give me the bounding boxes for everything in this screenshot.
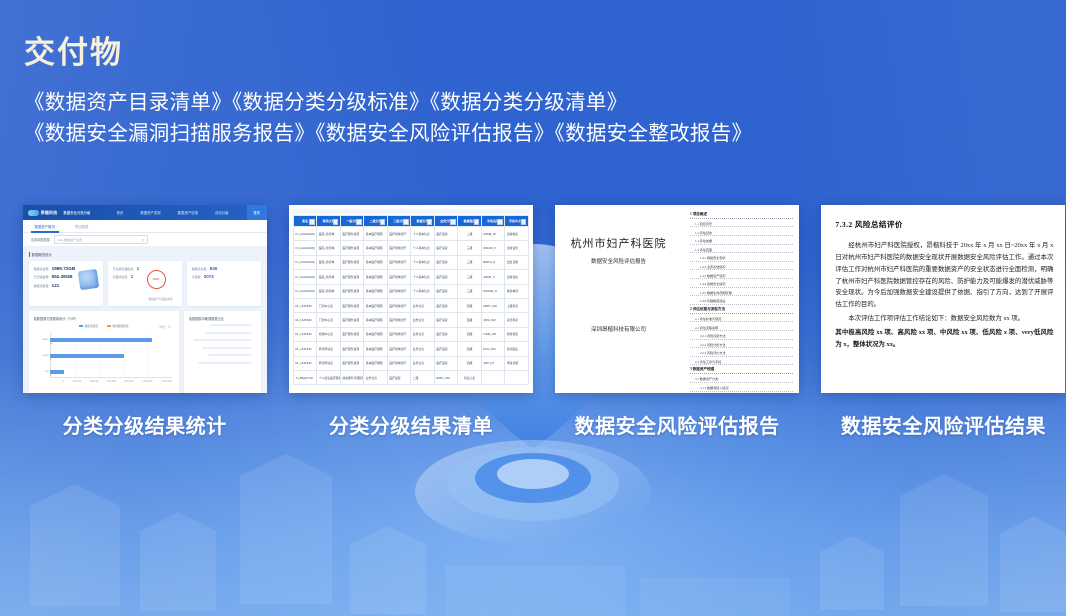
- dashboard-logo: 昂楷科技 数据安全分类分级: [28, 210, 91, 216]
- stat-value: 3072: [204, 274, 214, 279]
- legend-item-sensitive: 敏感数据数量: [107, 324, 129, 328]
- chart-plot-area: oracle mysql sql: [50, 332, 172, 378]
- logo-text: 昂楷科技: [41, 210, 58, 216]
- legend-item-tables: 数据表数量: [79, 324, 98, 328]
- chevron-down-icon: ▾: [142, 238, 144, 242]
- report-section-heading: 7.3.2 风险总结评价: [835, 219, 1053, 230]
- report-paragraph-conclusion: 其中极高风险 xx 项、高风险 xx 项、中风险 xx 项、低风险 x 项、ve…: [835, 327, 1053, 351]
- stat-value: 846: [210, 266, 218, 271]
- spreadsheet-screenshot: 库名 表英文名 一级分类 二级分类 三级分类 数据分类 业务分类 敏感级别 字段…: [289, 205, 533, 393]
- cover-subtitle: 数据安全风险评估报告: [565, 257, 672, 265]
- heading-block: 交付物 《数据资产目录清单》《数据分类分级标准》《数据分类分级清单》 《数据安全…: [24, 34, 752, 149]
- thumbnail-image-spreadsheet[interactable]: 库名 表英文名 一级分类 二级分类 三级分类 数据分类 业务分类 敏感级别 字段…: [289, 205, 533, 393]
- table-row: KJ_AAAOHWQ医院_检查单 医疗服务资源基本医疗保障 医疗机构诊疗个人基本…: [293, 255, 528, 269]
- stat-key: 数据总容量: [34, 267, 49, 271]
- col-sensitivity[interactable]: 敏感级别: [458, 216, 482, 227]
- col-table-name[interactable]: 表英文名: [317, 216, 341, 227]
- table-row: DL_HUIOHN门诊中心表 医疗服务资源基本医疗保障 医疗机构诊疗业务信息 医…: [293, 298, 528, 312]
- stat-row: 扫描中任务 1: [113, 274, 177, 279]
- chart-legend: 数据表数量 敏感数据数量: [34, 324, 174, 328]
- col-business-category[interactable]: 业务分类: [434, 216, 458, 227]
- list-placeholder-row: [205, 332, 252, 334]
- stat-card-capacity: 数据总容量 1989.72GB 已扫描容量 552.39GB 数据源数量 121: [29, 261, 103, 306]
- table-header-row: 库名 表英文名 一级分类 二级分类 三级分类 数据分类 业务分类 敏感级别 字段…: [293, 216, 528, 227]
- thumbnail-image-report-cover[interactable]: 杭州市妇产科医院 数据安全风险评估报告 深圳昂楷科技有限公司 1 项目概述 1.…: [555, 205, 799, 393]
- table-row: KJ_AAAOHWQ医院_检查单 医疗服务资源基本医疗保障 医疗机构诊疗个人基本…: [293, 241, 528, 255]
- toc-entry: 3.1.1 数据源接入情况: [690, 385, 793, 392]
- toc-entry: 1.1 项目背景: [690, 221, 793, 228]
- toc-entry: 2 评估依据与流程方法: [690, 307, 793, 314]
- datasource-select[interactable]: ALL-数据资产总览 ▾: [54, 235, 148, 244]
- classification-table: 库名 表英文名 一级分类 二级分类 三级分类 数据分类 业务分类 敏感级别 字段…: [293, 215, 529, 385]
- stat-card-tables: 数据表总数 846 字段数 3072: [187, 261, 261, 306]
- list-placeholder-row: [208, 354, 252, 356]
- toc-entry: 2.1 评估标准与规范: [690, 316, 793, 323]
- sensitive-ratio-panel: 各数据源中敏感数据占比: [184, 311, 261, 393]
- toc-entry: 1.2 评估目的: [690, 230, 793, 237]
- chart-bar: [50, 370, 65, 374]
- stat-card-row: 数据总容量 1989.72GB 已扫描容量 552.39GB 数据源数量 121: [29, 261, 261, 306]
- thumbnail-cell-classification-stats: 昂楷科技 数据安全分类分级 首页 数据资产发现 数据资产目录 自动分级 登录 数…: [22, 205, 267, 439]
- table-row: TJ_BNQOYW个人出生医疗服务信息 健康服务与保障管理业务信息 医疗运营二级…: [293, 370, 528, 384]
- toc-entry: 1.4.1 网络安全现状: [690, 255, 793, 262]
- stat-key: 已完成扫描任务: [113, 267, 134, 271]
- table-row: DL_HUIOHN转诊申请表 医疗服务资源基本医疗保障 医疗机构诊疗业务信息 医…: [293, 342, 528, 356]
- col-level2[interactable]: 二级分类: [364, 216, 388, 227]
- list-panel-title: 各数据源中敏感数据占比: [189, 316, 256, 321]
- col-level1[interactable]: 一级分类: [340, 216, 364, 227]
- logo-mark-icon: [28, 210, 39, 216]
- chart-ytick: sql: [37, 370, 49, 373]
- logo-subtitle: 数据安全分类分级: [63, 210, 90, 215]
- deliverable-line-2: 《数据安全漏洞扫描服务报告》《数据安全风险评估报告》《数据安全整改报告》: [24, 118, 752, 149]
- slide-root: 交付物 《数据资产目录清单》《数据分类分级标准》《数据分类分级清单》 《数据安全…: [0, 0, 1066, 616]
- chart-xticks: 0 200,000 400,000 600,000 800,000 1,000,…: [63, 380, 172, 383]
- stat-key: 数据表总数: [192, 267, 207, 271]
- stat-key: 数据源数量: [34, 284, 49, 288]
- completion-rate-gauge: 100%: [147, 270, 166, 289]
- stat-value: 1: [137, 266, 140, 271]
- thumbnail-caption: 数据安全风险评估结果: [841, 410, 1046, 439]
- toc-entry: 2.2.1 风险识别方法: [690, 333, 793, 340]
- table-body: KJ_AAAOHWQ医院_检查单 医疗服务资源基本医疗保障 医疗机构诊疗个人基本…: [293, 227, 528, 385]
- table-row: DL_HUIOHN门诊中心表 医疗服务资源基本医疗保障 医疗机构诊疗业务信息 医…: [293, 313, 528, 327]
- chart-ytick: mysql: [37, 354, 49, 357]
- toc-entry: 1.4.3 数据资产情况: [690, 273, 793, 280]
- dashboard-tabs: 数据资产概况 导出报表: [23, 220, 267, 233]
- completion-rate-label: 数据资产扫描完成率: [148, 297, 172, 301]
- col-db-name[interactable]: 库名: [293, 216, 317, 227]
- report-spread: 杭州市妇产科医院 数据安全风险评估报告 深圳昂楷科技有限公司 1 项目概述 1.…: [555, 205, 799, 393]
- toc-entry: 3.1 数据资产分类: [690, 376, 793, 383]
- menu-item-auto-grading[interactable]: 自动分级: [215, 210, 229, 215]
- list-placeholder-row: [198, 362, 251, 364]
- chart-unit-note: （单位：个）: [157, 325, 173, 329]
- thumbnail-cell-risk-result: 7.3.2 风险总结评价 经杭州市妇产科医院授权，昂楷科技于 20xx 年 x …: [821, 205, 1066, 439]
- report-cover-page: 杭州市妇产科医院 数据安全风险评估报告 深圳昂楷科技有限公司: [555, 205, 682, 393]
- thumbnail-image-dashboard[interactable]: 昂楷科技 数据安全分类分级 首页 数据资产发现 数据资产目录 自动分级 登录 数…: [23, 205, 267, 393]
- col-data-category[interactable]: 数据分类: [411, 216, 435, 227]
- toc-entry: 1 项目概述: [690, 212, 793, 219]
- datasource-select-value: ALL-数据资产总览: [58, 238, 82, 242]
- col-field-cn[interactable]: 字段中文名: [505, 216, 529, 227]
- table-row: KJ_AAAOHWQ医院_检查单 医疗服务资源基本医疗保障 医疗机构诊疗个人基本…: [293, 227, 528, 241]
- menu-item-asset-discovery[interactable]: 数据资产发现: [140, 210, 160, 215]
- thumbnail-image-report-text[interactable]: 7.3.2 风险总结评价 经杭州市妇产科医院授权，昂楷科技于 20xx 年 x …: [821, 205, 1065, 393]
- report-text-page: 7.3.2 风险总结评价 经杭州市妇产科医院授权，昂楷科技于 20xx 年 x …: [821, 205, 1065, 393]
- dashboard-filter-bar: 请选择数据源 ALL-数据资产总览 ▾: [23, 233, 267, 247]
- toc-entry: 1.4.5 数据生命周期管理: [690, 290, 793, 297]
- stat-value: 552.39GB: [52, 274, 73, 279]
- report-toc-page: 1 项目概述 1.1 项目背景 1.2 评估目的 1.3 评估依据 1.4 评估…: [682, 205, 799, 393]
- cover-company: 深圳昂楷科技有限公司: [565, 325, 672, 333]
- dashboard-screenshot: 昂楷科技 数据安全分类分级 首页 数据资产发现 数据资产目录 自动分级 登录 数…: [23, 205, 267, 393]
- toc-entry: 2.2 评估流程说明: [690, 325, 793, 332]
- thumbnail-row: 昂楷科技 数据安全分类分级 首页 数据资产发现 数据资产目录 自动分级 登录 数…: [0, 205, 1066, 439]
- table-row: KJ_AAAOHWQ医院_检查单 医疗服务资源基本医疗保障 医疗机构诊疗个人基本…: [293, 270, 528, 284]
- stat-key: 字段数: [192, 275, 201, 279]
- report-paragraph: 本次评估工作项评估工作结论如下：数据安全风险数为 xx 项。: [835, 313, 1053, 325]
- menu-item-asset-catalog[interactable]: 数据资产目录: [178, 210, 198, 215]
- toc-entry: 3 数据资产梳理: [690, 367, 793, 374]
- thumbnail-cell-classification-list: 库名 表英文名 一级分类 二级分类 三级分类 数据分类 业务分类 敏感级别 字段…: [288, 205, 533, 439]
- list-placeholder-row: [202, 347, 251, 349]
- page-fade-edge: [821, 383, 1065, 393]
- stat-row: 字段数 3072: [192, 274, 256, 279]
- dashboard-menu: 首页 数据资产发现 数据资产目录 自动分级: [117, 210, 229, 215]
- tab-asset-overview[interactable]: 数据资产概况: [35, 224, 55, 229]
- spreadsheet-toolbar: [293, 209, 529, 214]
- toc-entry: 1.4.4 运维安全情况: [690, 281, 793, 288]
- stat-row: 已完成扫描任务 1: [113, 266, 177, 271]
- col-level3[interactable]: 三级分类: [387, 216, 411, 227]
- deliverable-line-1: 《数据资产目录清单》《数据分类分级标准》《数据分类分级清单》: [24, 87, 752, 118]
- list-placeholder-row: [210, 324, 251, 326]
- chart-bar-secondary: [50, 359, 51, 361]
- report-paragraph: 经杭州市妇产科医院授权，昂楷科技于 20xx 年 x 月 xx 日~20xx 年…: [835, 240, 1053, 311]
- list-placeholder-row: [193, 339, 252, 341]
- toc-entry: 2.3 评估工具与手段: [690, 359, 793, 366]
- section-title: 数据概览统计: [29, 252, 261, 257]
- chart-bar-secondary: [50, 343, 52, 345]
- cover-title: 杭州市妇产科医院: [565, 235, 672, 251]
- table-row: DL_HUIOHN检验中心表 医疗服务资源基本医疗保障 医疗机构诊疗业务信息 医…: [293, 327, 528, 341]
- thumbnail-caption: 分类分级结果清单: [329, 410, 493, 439]
- database-icon: [77, 269, 98, 290]
- toc-entry: 1.4.2 业务系统情况: [690, 264, 793, 271]
- toc-entry: 1.3 评估依据: [690, 238, 793, 245]
- stat-value: 1: [131, 274, 134, 279]
- login-button[interactable]: 登录: [247, 205, 267, 220]
- menu-item-home[interactable]: 首页: [117, 210, 124, 215]
- table-row: DL_HUIOHN转诊申请表 医疗服务资源基本医疗保障 医疗机构诊疗业务信息 医…: [293, 356, 528, 370]
- stat-value: 1989.72GB: [52, 266, 76, 271]
- thumbnail-caption: 数据安全风险评估报告: [575, 410, 780, 439]
- filter-label: 请选择数据源: [31, 237, 50, 242]
- stat-key: 已扫描容量: [34, 275, 49, 279]
- chart-ytick: oracle: [37, 338, 49, 341]
- toc-entry: 1.4 评估范围: [690, 247, 793, 254]
- toc-entry: 1.4.6 管理制度建设: [690, 298, 793, 305]
- col-field-name[interactable]: 字段名称: [481, 216, 505, 227]
- thumbnail-caption: 分类分级结果统计: [63, 410, 227, 439]
- stat-key: 扫描中任务: [113, 275, 128, 279]
- stat-row: 数据表总数 846: [192, 266, 256, 271]
- stat-value: 121: [52, 283, 60, 288]
- table-row: KJ_AAAOHWQ医院_检验单 医疗服务资源基本医疗保障 医疗机构诊疗个人基本…: [293, 284, 528, 298]
- chart-title: 各数据源分类数量统计（TOP）: [34, 316, 174, 321]
- tab-export-report[interactable]: 导出报表: [75, 224, 89, 229]
- toc-entry: 2.2.2 风险分析方法: [690, 342, 793, 349]
- dashboard-panel-row: 各数据源分类数量统计（TOP） 数据表数量 敏感数据数量 （单位：个: [29, 311, 261, 393]
- bar-chart-panel: 各数据源分类数量统计（TOP） 数据表数量 敏感数据数量 （单位：个: [29, 311, 179, 393]
- chart-bar: [50, 354, 125, 358]
- chart-bar: [50, 338, 153, 342]
- stat-card-scan-tasks: 已完成扫描任务 1 扫描中任务 1 100% 数据资产扫描完成率: [108, 261, 182, 306]
- toc-entry: 2.2.3 风险评价方法: [690, 350, 793, 357]
- dashboard-body: 数据概览统计 数据总容量 1989.72GB 已扫描容量 552.39GB: [23, 247, 267, 393]
- dashboard-navbar: 昂楷科技 数据安全分类分级 首页 数据资产发现 数据资产目录 自动分级 登录: [23, 205, 267, 220]
- thumbnail-cell-risk-report: 杭州市妇产科医院 数据安全风险评估报告 深圳昂楷科技有限公司 1 项目概述 1.…: [555, 205, 800, 439]
- chart-bar-secondary: [50, 375, 51, 377]
- page-title: 交付物: [24, 34, 752, 73]
